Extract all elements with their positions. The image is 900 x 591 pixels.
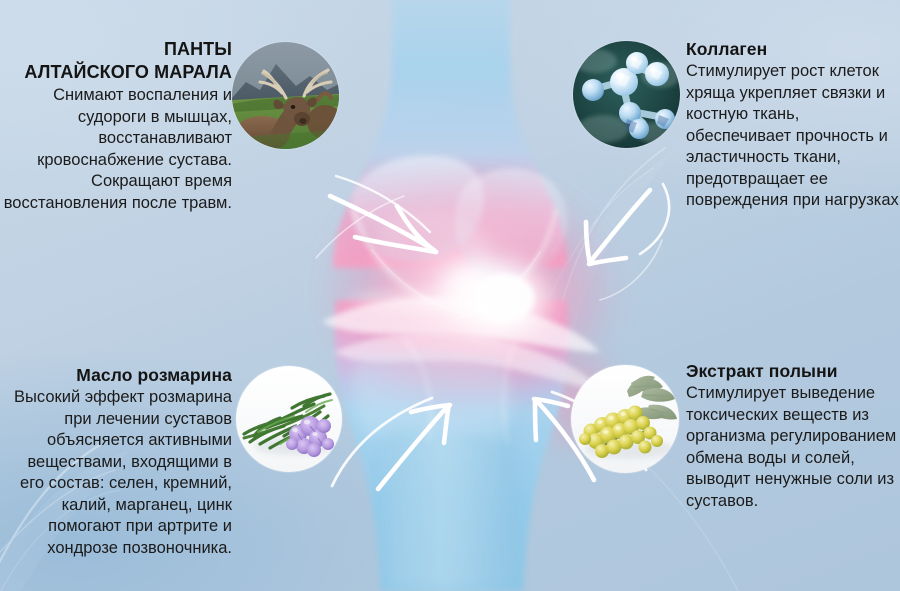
ingredient-title-antlers-line2: АЛТАЙСКОГО МАРАЛА: [24, 62, 232, 82]
ingredient-block-wormwood: Экстракт полыни Стимулирует выведение то…: [686, 360, 900, 512]
ingredient-block-collagen: Коллаген Стимулирует рост клеток хряща у…: [686, 38, 900, 212]
rosemary-sprig-photo: [236, 366, 342, 472]
ingredient-block-antlers: ПАНТЫ АЛТАЙСКОГО МАРАЛА Снимают воспален…: [0, 38, 232, 214]
ingredient-title-antlers-line1: ПАНТЫ: [164, 39, 232, 59]
ingredient-title-collagen: Коллаген: [686, 38, 900, 60]
wormwood-flowers-photo: [571, 365, 679, 473]
ingredient-body-antlers: Снимают воспаления и судороги в мышцах, …: [0, 85, 232, 214]
ingredient-body-rosemary: Высокий эффект розмарина при лечении сус…: [0, 387, 232, 559]
ingredient-body-wormwood: Стимулирует выведение токсических вещест…: [686, 383, 900, 512]
altai-maral-deer-photo: [232, 42, 339, 149]
ingredient-body-collagen: Стимулирует рост клеток хряща укрепляет …: [686, 61, 900, 212]
ingredient-title-antlers: ПАНТЫ АЛТАЙСКОГО МАРАЛА: [0, 38, 232, 84]
ingredient-title-wormwood: Экстракт полыни: [686, 360, 900, 382]
ingredient-block-rosemary: Масло розмарина Высокий эффект розмарина…: [0, 364, 232, 559]
infographic-canvas: ПАНТЫ АЛТАЙСКОГО МАРАЛА Снимают воспален…: [0, 0, 900, 591]
collagen-molecule-photo: [573, 41, 680, 148]
ingredient-title-rosemary: Масло розмарина: [0, 364, 232, 386]
